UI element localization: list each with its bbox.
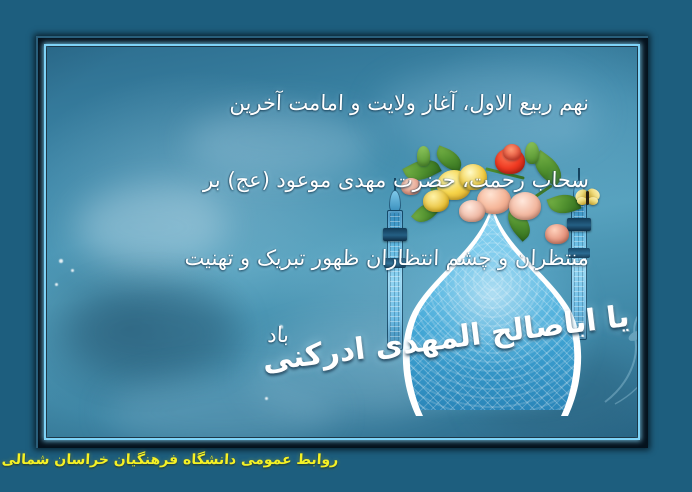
greeting-message: نهم ربیع الاول، آغاز ولایت و امامت آخرین… bbox=[59, 89, 589, 349]
message-line-3: منتظران و چشم انتظاران ظهور تبریک و تهنی… bbox=[59, 244, 590, 272]
light-speck bbox=[265, 397, 268, 400]
message-line-1: نهم ربیع الاول، آغاز ولایت و امامت آخرین bbox=[59, 89, 590, 117]
message-line-4: باد bbox=[59, 321, 290, 349]
artwork-canvas: نهم ربیع الاول، آغاز ولایت و امامت آخرین… bbox=[47, 47, 637, 437]
cloud-blob bbox=[107, 377, 337, 437]
poster-frame: نهم ربیع الاول، آغاز ولایت و امامت آخرین… bbox=[36, 36, 648, 448]
light-speck bbox=[55, 283, 58, 286]
message-line-2: سحاب رحمت، حضرت مهدی موعود (عج) بر bbox=[59, 166, 590, 194]
credit-line: روابط عمومی دانشگاه فرهنگیان خراسان شمال… bbox=[0, 452, 340, 468]
greeting-card-poster: نهم ربیع الاول، آغاز ولایت و امامت آخرین… bbox=[0, 0, 692, 492]
